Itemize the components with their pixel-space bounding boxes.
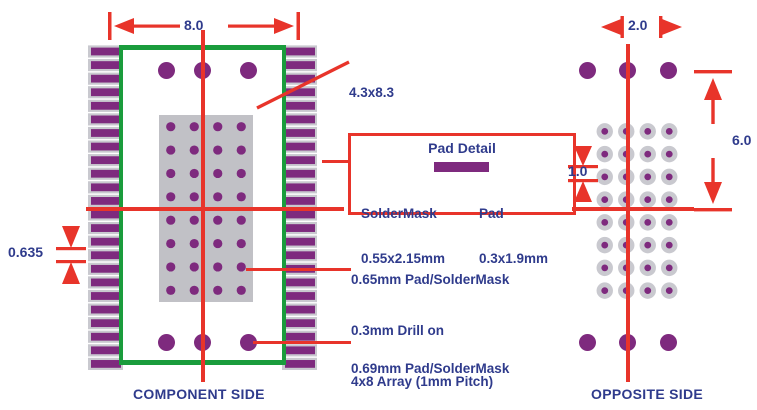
leader-pad-detail	[322, 160, 349, 163]
leader-mount-hole	[253, 341, 351, 344]
note-via-array-line-1: 0.65mm Pad/SolderMask	[351, 271, 509, 288]
silkscreen-left	[119, 45, 123, 365]
mount-hole-bottom-left	[158, 334, 175, 351]
opposite-mount-hole-bottom-right	[660, 334, 677, 351]
opposite-side-view: 2.0 1.0	[560, 0, 757, 400]
dimension-2-0-label: 2.0	[628, 17, 647, 33]
caption-opposite-side: OPPOSITE SIDE	[591, 386, 703, 402]
opposite-mount-hole-bottom-left	[579, 334, 596, 351]
note-mount-hole: 0.69mm Pad/SolderMask 0.635mm Drill	[351, 326, 509, 410]
caption-component-side: COMPONENT SIDE	[133, 386, 265, 402]
opposite-mount-hole-top-right	[660, 62, 677, 79]
note-powerpad-line-1: 4.3x8.3	[349, 84, 507, 101]
dimension-2-0: 2.0	[597, 12, 727, 42]
leader-powerpad	[255, 58, 351, 110]
pad-detail-soldermask-label: SolderMask	[361, 206, 445, 221]
center-axis-horizontal-left	[86, 207, 344, 211]
dimension-6-0-label: 6.0	[732, 132, 751, 148]
center-axis-vertical-left	[201, 30, 205, 382]
diagram-canvas: 8.0	[0, 0, 757, 410]
dimension-6-0: 6.0	[690, 70, 754, 212]
pad-detail-pad-label: Pad	[479, 206, 548, 221]
note-mount-hole-line-1: 0.69mm Pad/SolderMask	[351, 360, 509, 377]
pad-detail-title: Pad Detail	[351, 140, 573, 156]
leader-via-array	[246, 268, 351, 271]
center-axis-vertical-right	[626, 44, 630, 382]
dimension-1-0-label: 1.0	[568, 163, 587, 179]
pad-detail-swatch	[434, 162, 489, 172]
via-array-opposite	[594, 120, 680, 302]
mount-hole-top-left	[158, 62, 175, 79]
dimension-0-635-label: 0.635	[8, 244, 43, 260]
dimension-0-635: 0.635	[8, 220, 88, 290]
dimension-1-0: 1.0	[568, 142, 602, 210]
pad-detail-box: Pad Detail SolderMask 0.55x2.15mm Pad 0.…	[348, 133, 576, 215]
opposite-mount-hole-top-left	[579, 62, 596, 79]
